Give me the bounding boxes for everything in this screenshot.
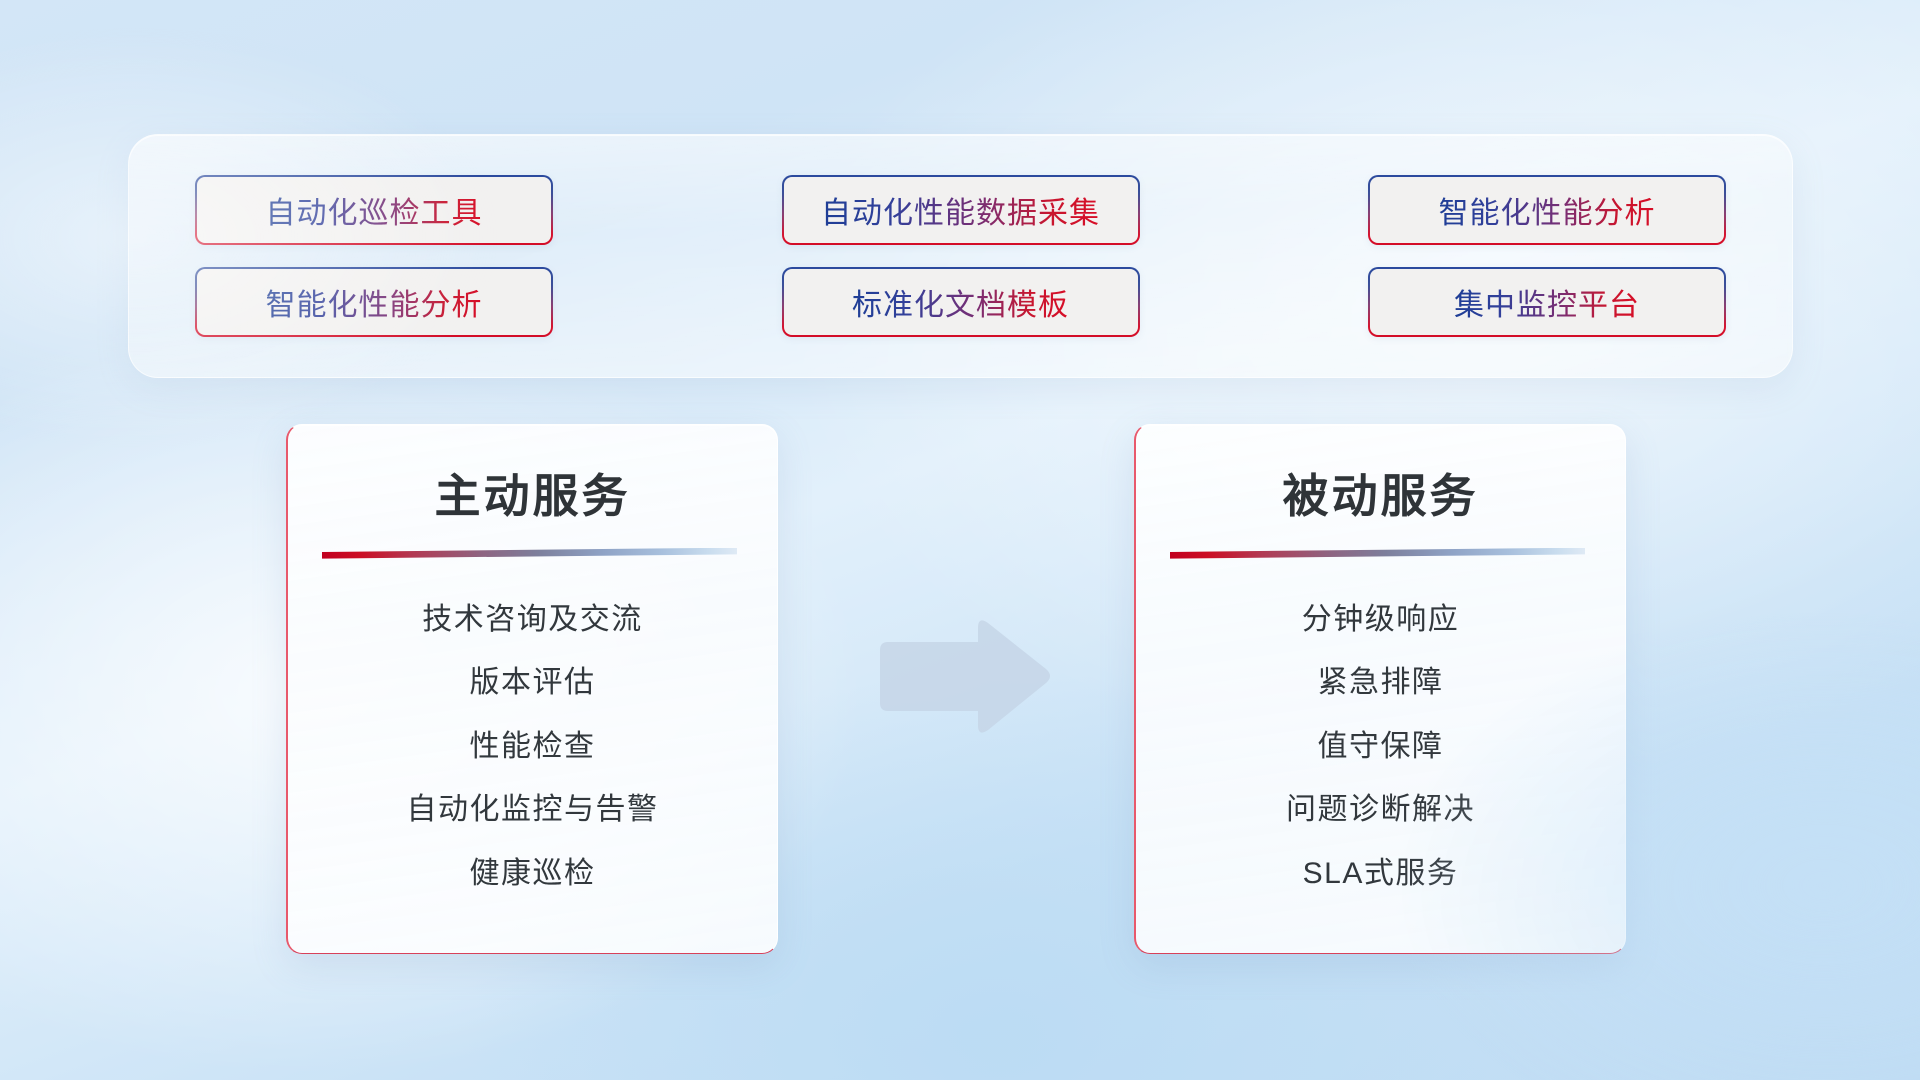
card-title: 被动服务 [1170, 471, 1591, 522]
card-list-item: 值守保障 [1170, 728, 1591, 766]
capability-pill[interactable]: 智能化性能分析 [195, 267, 553, 337]
service-card-active[interactable]: 主动服务 技术咨询及交流 版本评估 性能检查 自动化监控与告警 健康巡检 [286, 424, 778, 954]
card-divider [322, 548, 735, 559]
card-list-item: 问题诊断解决 [1170, 791, 1591, 829]
capability-pill[interactable]: 自动化巡检工具 [195, 175, 553, 245]
capability-pill-label: 自动化性能数据采集 [821, 188, 1100, 232]
capability-pill[interactable]: 标准化文档模板 [782, 267, 1140, 337]
capability-pill[interactable]: 智能化性能分析 [1368, 175, 1726, 245]
service-card-passive[interactable]: 被动服务 分钟级响应 紧急排障 值守保障 问题诊断解决 SLA式服务 [1134, 424, 1626, 954]
card-list-item: 自动化监控与告警 [322, 791, 743, 829]
card-title: 主动服务 [322, 471, 743, 522]
card-list-item: 分钟级响应 [1170, 601, 1591, 639]
card-list-item: 版本评估 [322, 664, 743, 702]
card-item-list: 技术咨询及交流 版本评估 性能检查 自动化监控与告警 健康巡检 [322, 601, 743, 893]
capability-pill[interactable]: 集中监控平台 [1368, 267, 1726, 337]
slide-canvas: 自动化巡检工具 自动化性能数据采集 智能化性能分析 智能化性能分析 标准化文档模… [0, 0, 1920, 1080]
card-list-item: SLA式服务 [1170, 855, 1591, 893]
divider-gradient-bar [1170, 548, 1585, 559]
capability-pill-label: 集中监控平台 [1454, 280, 1640, 324]
arrow-right-icon [870, 612, 1060, 742]
card-list-item: 健康巡检 [322, 855, 743, 893]
flow-arrow [870, 612, 1060, 742]
card-item-list: 分钟级响应 紧急排障 值守保障 问题诊断解决 SLA式服务 [1170, 601, 1591, 893]
card-list-item: 技术咨询及交流 [322, 601, 743, 639]
capability-pill-label: 标准化文档模板 [852, 280, 1069, 324]
card-list-item: 性能检查 [322, 728, 743, 766]
capabilities-row-1: 自动化巡检工具 自动化性能数据采集 智能化性能分析 [195, 175, 1726, 245]
capabilities-panel: 自动化巡检工具 自动化性能数据采集 智能化性能分析 智能化性能分析 标准化文档模… [128, 134, 1793, 378]
capabilities-row-2: 智能化性能分析 标准化文档模板 集中监控平台 [195, 267, 1726, 337]
capability-pill[interactable]: 自动化性能数据采集 [782, 175, 1140, 245]
capability-pill-label: 智能化性能分析 [266, 280, 483, 324]
card-list-item: 紧急排障 [1170, 664, 1591, 702]
capability-pill-label: 智能化性能分析 [1439, 188, 1656, 232]
divider-gradient-bar [322, 548, 737, 559]
capability-pill-label: 自动化巡检工具 [266, 188, 483, 232]
card-divider [1170, 548, 1583, 559]
